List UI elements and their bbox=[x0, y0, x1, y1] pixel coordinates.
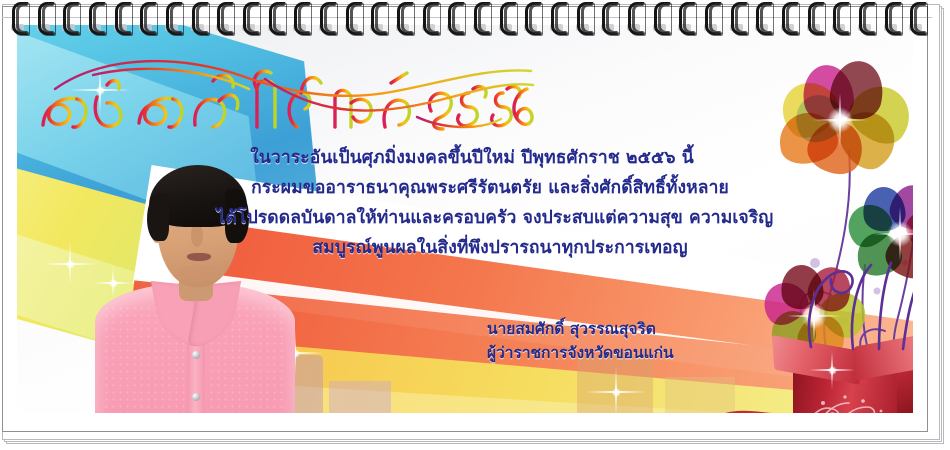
message-line-3: ได้โปรดดลบันดาลให้ท่านและครอบครัว จงประส… bbox=[107, 203, 827, 233]
new-year-script-headline bbox=[35, 59, 535, 141]
message-line-4: สมบูรณ์พูนผลในสิ่งที่พึงปรารถนาทุกประการ… bbox=[107, 233, 827, 263]
shirt-button bbox=[192, 351, 200, 359]
portrait-chin bbox=[177, 265, 221, 281]
message-line-2: กระผมขออาราธนาคุณพระศรีรัตนตรัย และสิ่งศ… bbox=[107, 173, 827, 203]
gift-box-ornament bbox=[793, 381, 897, 413]
greeting-message: ในวาระอันเป็นศุภมิ่งมงคลขึ้นปีใหม่ ปีพุท… bbox=[107, 143, 827, 263]
card-artwork: ในวาระอันเป็นศุภมิ่งมงคลขึ้นปีใหม่ ปีพุท… bbox=[17, 25, 913, 413]
signature-block: นายสมศักดิ์ สุวรรณสุจริต ผู้ว่าราชการจัง… bbox=[487, 317, 674, 365]
binding-rule-line bbox=[2, 17, 932, 18]
notepad-greeting-card: ในวาระอันเป็นศุภมิ่งมงคลขึ้นปีใหม่ ปีพุท… bbox=[0, 0, 950, 450]
signature-name: นายสมศักดิ์ สุวรรณสุจริต bbox=[487, 317, 674, 341]
shirt-button bbox=[192, 393, 200, 401]
message-line-1: ในวาระอันเป็นศุภมิ่งมงคลขึ้นปีใหม่ ปีพุท… bbox=[107, 143, 827, 173]
gift-ribbon-curls bbox=[787, 261, 913, 351]
accent-block bbox=[329, 381, 391, 413]
signature-title: ผู้ว่าราชการจังหวัดขอนแก่น bbox=[487, 341, 674, 365]
card-page: ในวาระอันเป็นศุภมิ่งมงคลขึ้นปีใหม่ ปีพุท… bbox=[2, 6, 928, 432]
gift-ribbon-tail bbox=[635, 407, 805, 413]
